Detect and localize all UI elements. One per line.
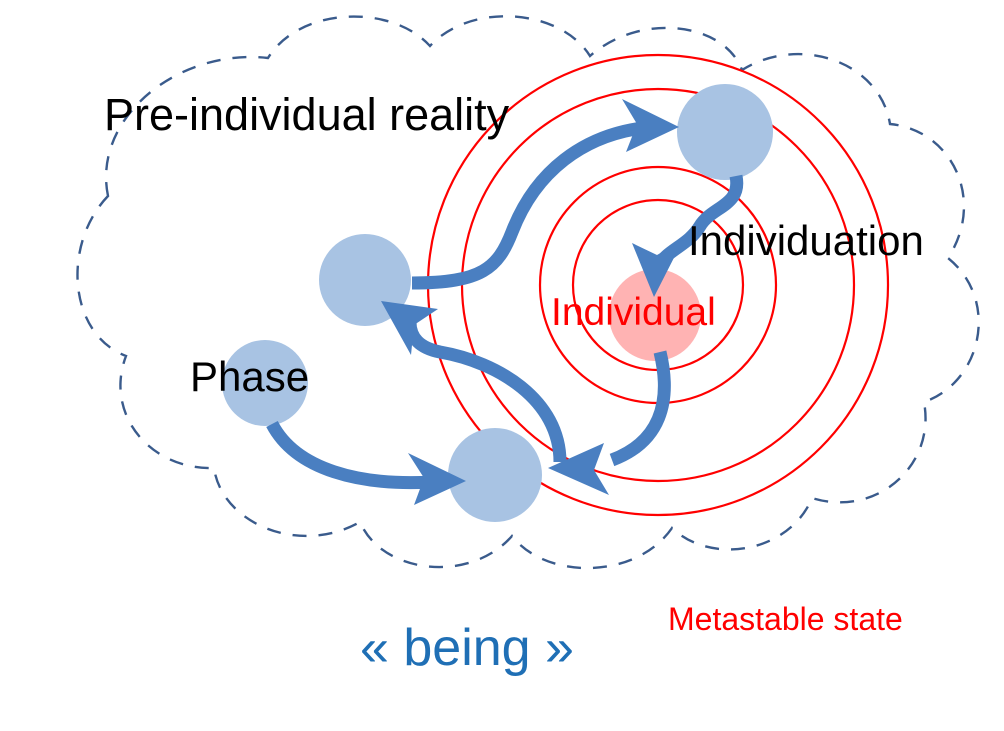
phase-node-bottom (448, 428, 542, 522)
arrow-midleft-to-topright-shaft (412, 128, 642, 283)
label-preindividual-reality: Pre-individual reality (104, 92, 509, 137)
label-phase: Phase (190, 356, 309, 398)
label-being: « being » (360, 622, 574, 674)
diagram-canvas: Pre-individual reality Individuation Ind… (0, 0, 1004, 731)
label-individuation: Individuation (688, 220, 924, 262)
label-individual: Individual (551, 293, 716, 332)
label-metastable-state: Metastable state (668, 603, 903, 635)
arrow-phase-to-bottom-shaft (272, 424, 432, 483)
arrow-phase-to-bottom (272, 424, 466, 505)
phase-node-top-right (677, 84, 773, 180)
